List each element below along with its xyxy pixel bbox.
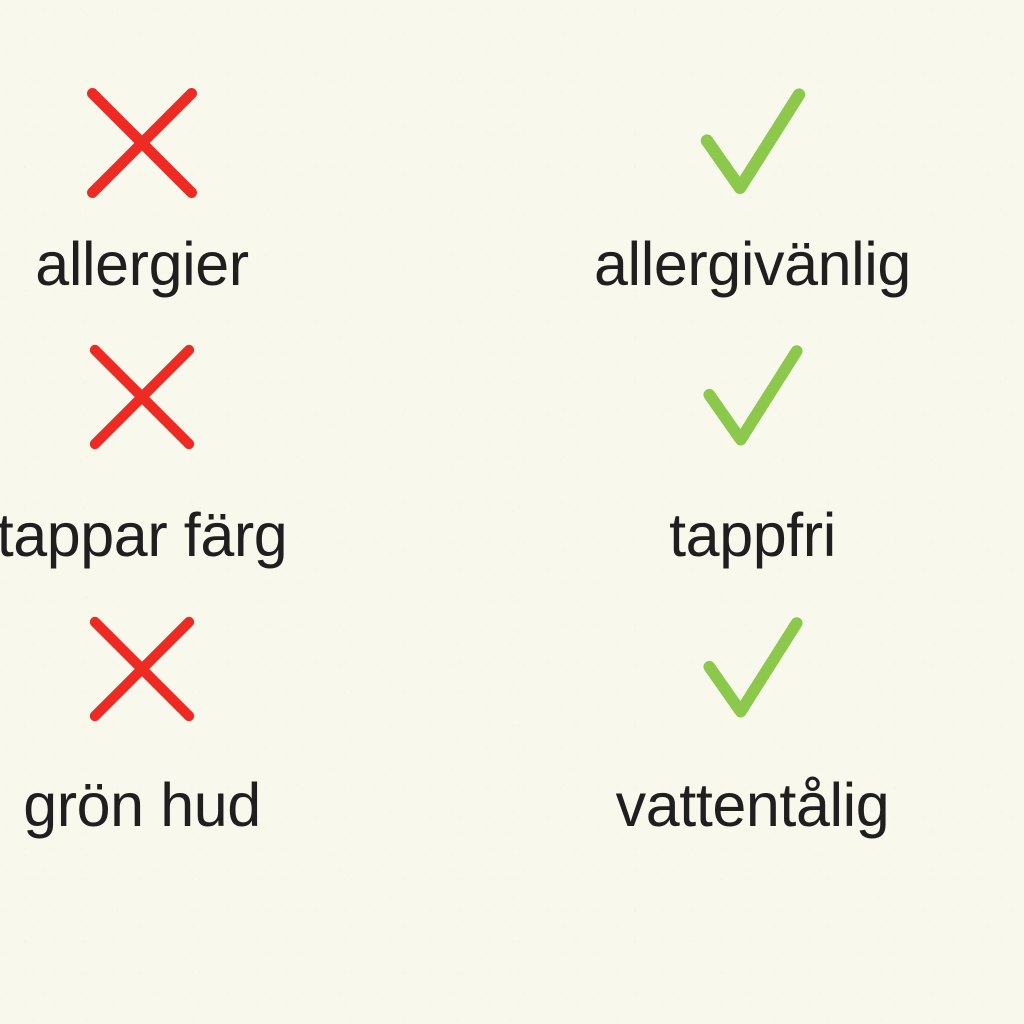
check-icon bbox=[697, 613, 809, 725]
comparison-item-positive-3: vattentålig bbox=[512, 610, 1024, 882]
comparison-label: tappar färg bbox=[0, 505, 287, 566]
comparison-item-negative-3: grön hud bbox=[0, 610, 512, 882]
comparison-label: tappfri bbox=[669, 505, 836, 566]
comparison-item-negative-1: allergier bbox=[0, 0, 512, 338]
check-icon bbox=[694, 84, 812, 202]
bottom-whitespace bbox=[0, 882, 1024, 1024]
comparison-label: grön hud bbox=[23, 775, 261, 836]
cross-icon bbox=[83, 84, 201, 202]
comparison-item-positive-1: allergivänlig bbox=[512, 0, 1024, 338]
cross-icon bbox=[86, 341, 198, 453]
comparison-item-positive-2: tappfri bbox=[512, 338, 1024, 610]
comparison-graphic: allergier allergivänlig tappar färg tapp… bbox=[0, 0, 1024, 1024]
cross-icon bbox=[86, 613, 198, 725]
comparison-label: vattentålig bbox=[616, 775, 890, 836]
comparison-label: allergier bbox=[35, 234, 248, 295]
comparison-grid: allergier allergivänlig tappar färg tapp… bbox=[0, 0, 1024, 1024]
comparison-label: allergivänlig bbox=[594, 234, 911, 295]
comparison-item-negative-2: tappar färg bbox=[0, 338, 512, 610]
check-icon bbox=[697, 341, 809, 453]
